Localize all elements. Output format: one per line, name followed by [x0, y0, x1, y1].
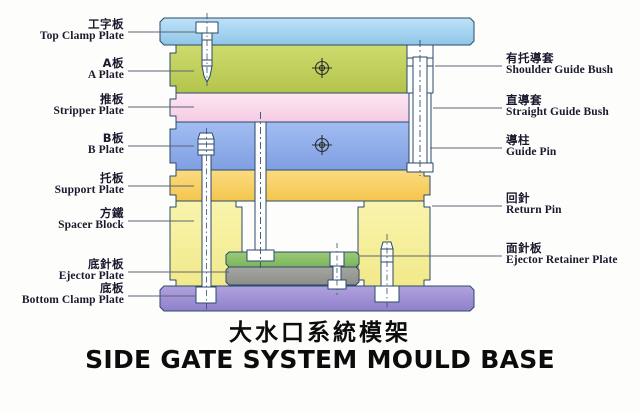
- label-b-plate-cn: B板: [88, 132, 124, 144]
- label-spacer-block: 方鐵 Spacer Block: [58, 207, 124, 232]
- label-stripper-plate: 推板 Stripper Plate: [54, 93, 125, 118]
- label-ejector-plate: 底針板 Ejector Plate: [59, 258, 124, 283]
- label-straight-guide-bush: 直導套 Straight Guide Bush: [506, 94, 609, 119]
- label-spacer-block-en: Spacer Block: [58, 219, 124, 231]
- label-shoulder-guide-bush: 有托導套 Shoulder Guide Bush: [506, 52, 613, 77]
- label-return-pin-cn: 回針: [506, 192, 562, 204]
- label-a-plate-cn: A板: [88, 57, 124, 69]
- label-spacer-block-cn: 方鐵: [58, 207, 124, 219]
- label-bottom-clamp-plate: 底板 Bottom Clamp Plate: [22, 282, 124, 307]
- ejector-pin-foot: [196, 287, 216, 303]
- label-stripper-plate-cn: 推板: [54, 93, 125, 105]
- label-guide-pin-en: Guide Pin: [506, 146, 556, 158]
- label-ejector-retainer-plate-en: Ejector Retainer Plate: [506, 254, 618, 266]
- label-guide-pin: 導柱 Guide Pin: [506, 134, 556, 159]
- label-return-pin: 回針 Return Pin: [506, 192, 562, 217]
- label-support-plate: 托板 Support Plate: [55, 172, 124, 197]
- label-top-clamp-plate-en: Top Clamp Plate: [40, 30, 124, 42]
- label-support-plate-cn: 托板: [55, 172, 124, 184]
- spacer-block-right: [358, 201, 430, 286]
- label-a-plate: A板 A Plate: [88, 57, 124, 82]
- label-a-plate-en: A Plate: [88, 69, 124, 81]
- plate-stripper: [170, 93, 430, 122]
- label-shoulder-guide-bush-en: Shoulder Guide Bush: [506, 64, 613, 76]
- label-top-clamp-plate: 工字板 Top Clamp Plate: [40, 18, 124, 43]
- label-guide-pin-cn: 導柱: [506, 134, 556, 146]
- diagram-page: 工字板 Top Clamp Plate A板 A Plate 推板 Stripp…: [0, 0, 640, 410]
- label-bottom-clamp-plate-cn: 底板: [22, 282, 124, 294]
- label-support-plate-en: Support Plate: [55, 184, 124, 196]
- label-ejector-retainer-plate-cn: 面針板: [506, 242, 618, 254]
- ejector-pin-head: [198, 139, 214, 155]
- label-bottom-clamp-plate-en: Bottom Clamp Plate: [22, 294, 124, 306]
- title-chinese: 大水口系統模架: [0, 313, 640, 347]
- centre-sleeve-shaft: [255, 122, 266, 250]
- label-straight-guide-bush-cn: 直導套: [506, 94, 609, 106]
- label-return-pin-en: Return Pin: [506, 204, 562, 216]
- label-shoulder-guide-bush-cn: 有托導套: [506, 52, 613, 64]
- label-stripper-plate-en: Stripper Plate: [54, 105, 125, 117]
- label-ejector-plate-cn: 底針板: [59, 258, 124, 270]
- label-straight-guide-bush-en: Straight Guide Bush: [506, 106, 609, 118]
- label-ejector-retainer-plate: 面針板 Ejector Retainer Plate: [506, 242, 618, 267]
- label-b-plate: B板 B Plate: [88, 132, 124, 157]
- label-top-clamp-plate-cn: 工字板: [40, 18, 124, 30]
- title-english: SIDE GATE SYSTEM MOULD BASE: [0, 345, 640, 374]
- label-b-plate-en: B Plate: [88, 144, 124, 156]
